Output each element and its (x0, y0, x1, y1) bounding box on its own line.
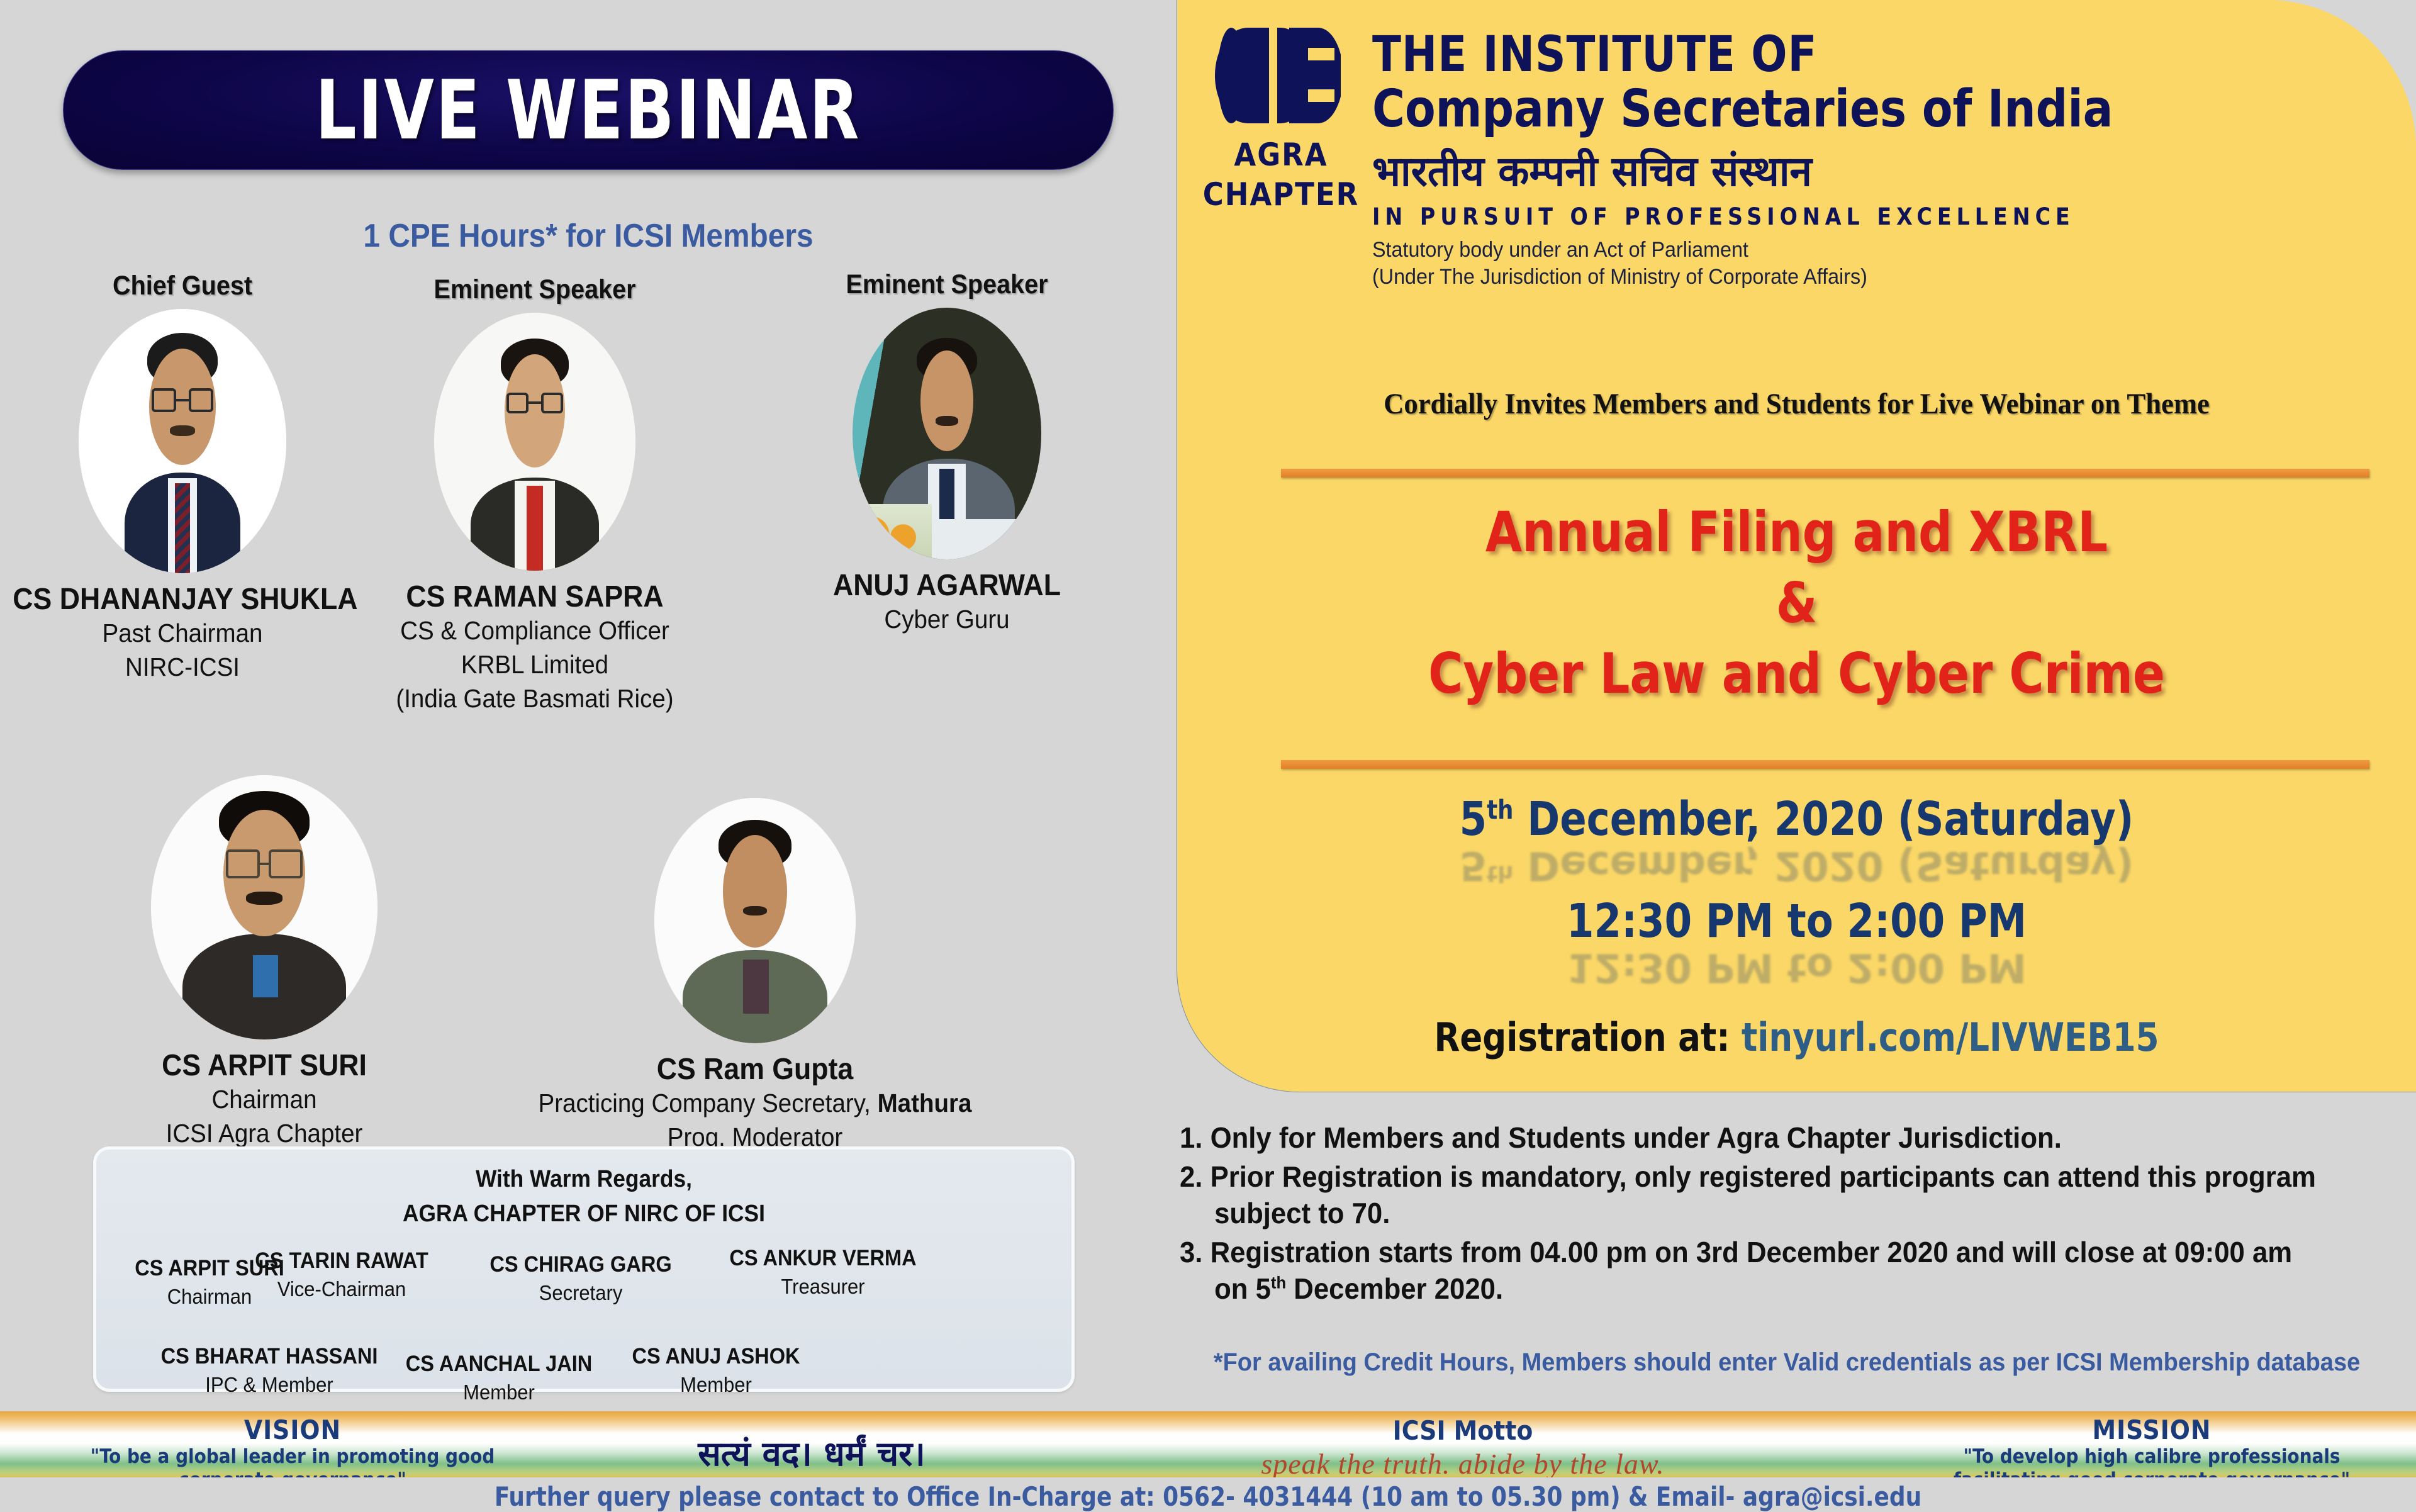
speaker-subtitle-2: NIRC-ICSI (11, 650, 354, 684)
note-item: 1. Only for Members and Students under A… (1180, 1120, 2334, 1156)
sanskrit-motto: सत्यं वद। धर्मं चर। (560, 1429, 1063, 1476)
committee-member-role: Member (592, 1373, 841, 1397)
institute-name-block: THE INSTITUTE OF Company Secretaries of … (1372, 26, 2391, 289)
speaker-role-label: Chief Guest (14, 271, 350, 301)
registration-line: Registration at: tinyurl.com/LIVWEB15 (1208, 1014, 2385, 1060)
icsi-logo-icon (1215, 19, 1341, 132)
speaker-photo-dhananjay-shukla (79, 309, 286, 573)
note-item-3-post: December 2020. (1286, 1272, 1503, 1305)
speaker-photo-ram-gupta (654, 798, 856, 1043)
speaker-card-arpit-suri: CS ARPIT SURI Chairman ICSI Agra Chapter (75, 775, 453, 1150)
theme-line-1: Annual Filing and XBRL (1208, 497, 2385, 568)
event-date: 5th December, 2020 (Saturday) (1214, 796, 2379, 843)
statutory-line-2: (Under The Jurisdiction of Ministry of C… (1372, 265, 2340, 289)
institute-line-2: Company Secretaries of India (1372, 79, 2351, 139)
event-time: 12:30 PM to 2:00 PM (1214, 898, 2379, 944)
speaker-subtitle-2: ICSI Agra Chapter (87, 1116, 442, 1150)
note-item: 2. Prior Registration is mandatory, only… (1180, 1159, 2334, 1232)
speaker-subtitle-1: Cyber Guru (805, 602, 1088, 636)
right-panel: AGRA CHAPTER THE INSTITUTE OF Company Se… (1177, 0, 2416, 1092)
speaker-subtitle-2: KRBL Limited (363, 647, 706, 681)
divider-bottom (1281, 760, 2369, 769)
speaker-subtitle-3: (India Gate Basmati Rice) (363, 681, 706, 715)
vision-block: VISION "To be a global leader in promoti… (82, 1414, 503, 1477)
committee-member-name: CS CHIRAG GARG (458, 1252, 704, 1277)
speaker-subtitle-1: Past Chairman (11, 616, 354, 650)
live-webinar-banner: LIVE WEBINAR (63, 50, 1114, 170)
speaker-photo-raman-sapra (434, 313, 635, 571)
committee-member-role: IPC & Member (145, 1373, 394, 1397)
event-time-reflection: 12:30 PM to 2:00 PM (1214, 948, 2379, 988)
committee-member-role: Secretary (457, 1281, 705, 1305)
chapter-line: CHAPTER (1196, 175, 1366, 215)
speaker-name: CS Ram Gupta (498, 1053, 1012, 1086)
committee-member: CS CHIRAG GARG Secretary (449, 1252, 713, 1305)
committee-member-name: CS ANUJ ASHOK (593, 1344, 839, 1369)
institute-line-hindi: भारतीय कम्पनी सचिव संस्थान (1372, 142, 2361, 198)
tricolour-footer-banner: VISION "To be a global leader in promoti… (0, 1411, 2416, 1477)
registration-link[interactable]: tinyurl.com/LIVWEB15 (1742, 1014, 2159, 1060)
speaker-subtitle-1-city: Mathura (878, 1089, 972, 1117)
theme-ampersand: & (1208, 568, 2385, 639)
committee-member-role: Treasurer (699, 1275, 948, 1299)
speaker-role-label: Eminent Speaker (367, 274, 703, 305)
regards-line-2: AGRA CHAPTER OF NIRC OF ICSI (130, 1198, 1037, 1230)
left-panel: LIVE WEBINAR 1 CPE Hours* for ICSI Membe… (0, 0, 1177, 1409)
committee-member-role: Vice-Chairman (218, 1277, 466, 1301)
speaker-card-ram-gupta: CS Ram Gupta Practicing Company Secretar… (478, 798, 1032, 1154)
institute-line-1: THE INSTITUTE OF (1372, 26, 2351, 83)
statutory-line-1: Statutory body under an Act of Parliamen… (1372, 238, 2340, 262)
icsi-header: AGRA CHAPTER THE INSTITUTE OF Company Se… (1177, 13, 2416, 164)
event-date-reflection: 5th December, 2020 (Saturday) (1214, 846, 2379, 886)
regards-line-1: With Warm Regards, (130, 1163, 1037, 1196)
motto-heading: ICSI Motto (1070, 1415, 1856, 1446)
invitation-line: Cordially Invites Members and Students f… (1208, 387, 2385, 421)
note-item: 3. Registration starts from 04.00 pm on … (1180, 1235, 2334, 1308)
motto-block: ICSI Motto speak the truth. abide by the… (1070, 1415, 1856, 1477)
speaker-photo-anuj-agarwal (853, 308, 1041, 559)
committee-member: CS ANKUR VERMA Treasurer (691, 1246, 955, 1299)
speaker-role-label: Eminent Speaker (808, 269, 1086, 300)
speaker-subtitle-1-pre: Practicing Company Secretary, (539, 1089, 878, 1117)
note-item-3-sup: th (1271, 1273, 1286, 1292)
live-webinar-title: LIVE WEBINAR (316, 62, 861, 158)
institute-tagline: IN PURSUIT OF PROFESSIONAL EXCELLENCE (1372, 203, 2391, 230)
agra-line: AGRA (1196, 135, 1366, 175)
committee-member-name: CS ANKUR VERMA (700, 1246, 946, 1271)
speaker-name: ANUJ AGARWAL (807, 569, 1087, 602)
speaker-subtitle-1: Practicing Company Secretary, Mathura (495, 1086, 1015, 1120)
mission-block: MISSION "To develop high calibre profess… (1925, 1414, 2378, 1477)
notes-list: 1. Only for Members and Students under A… (1180, 1120, 2394, 1310)
event-date-day: 5 (1460, 792, 1487, 846)
motto-text: speak the truth. abide by the law. (1070, 1447, 1856, 1477)
committee-member: CS ANUJ ASHOK Member (584, 1344, 848, 1397)
theme-block: Annual Filing and XBRL & Cyber Law and C… (1177, 497, 2416, 710)
committee-row-1: CS ARPIT SURI Chairman CS TARIN RAWAT Vi… (96, 1252, 1071, 1334)
mission-text: "To develop high calibre professionals f… (1925, 1445, 2378, 1477)
credit-hours-note: *For availing Credit Hours, Members shou… (1210, 1347, 2364, 1378)
event-date-suffix: th (1487, 794, 1513, 825)
vision-heading: VISION (82, 1414, 503, 1445)
vision-text: "To be a global leader in promoting good… (82, 1445, 503, 1477)
committee-member: CS BHARAT HASSANI IPC & Member (137, 1344, 401, 1397)
committee-member-name: CS BHARAT HASSANI (147, 1344, 393, 1369)
committee-box: With Warm Regards, AGRA CHAPTER OF NIRC … (93, 1146, 1075, 1392)
speaker-subtitle-1: CS & Compliance Officer (363, 613, 706, 647)
mission-heading: MISSION (1925, 1414, 2378, 1445)
divider-top (1281, 469, 2369, 478)
committee-row-2: CS BHARAT HASSANI IPC & Member CS AANCHA… (96, 1334, 1071, 1409)
contact-line: Further query please contact to Office I… (60, 1481, 2356, 1512)
speaker-card-raman-sapra: Eminent Speaker CS RAMAN SAPRA CS & Comp… (352, 274, 717, 715)
speaker-name: CS ARPIT SURI (89, 1050, 440, 1082)
event-datetime-block: 5th December, 2020 (Saturday) 5th Decemb… (1177, 796, 2416, 1000)
speaker-card-anuj-agarwal: Eminent Speaker ANUJ AGARWAL Cyber Guru (796, 269, 1098, 636)
theme-line-2: Cyber Law and Cyber Crime (1208, 639, 2385, 710)
registration-label: Registration at: (1434, 1014, 1742, 1060)
speaker-subtitle-1: Chairman (87, 1082, 442, 1116)
speaker-photo-arpit-suri (151, 775, 377, 1039)
speaker-name: CS DHANANJAY SHUKLA (13, 583, 352, 616)
committee-member: CS TARIN RAWAT Vice-Chairman (210, 1248, 474, 1301)
committee-member-name: CS TARIN RAWAT (219, 1248, 465, 1274)
speaker-card-dhananjay-shukla: Chief Guest CS DHANANJAY SHUKLA Past Cha… (0, 271, 365, 684)
cpe-hours-note: 1 CPE Hours* for ICSI Members (47, 217, 1129, 255)
speaker-name: CS RAMAN SAPRA (365, 581, 704, 613)
agra-chapter-label: AGRA CHAPTER (1196, 135, 1366, 214)
event-date-rest: December, 2020 (Saturday) (1513, 792, 2134, 846)
